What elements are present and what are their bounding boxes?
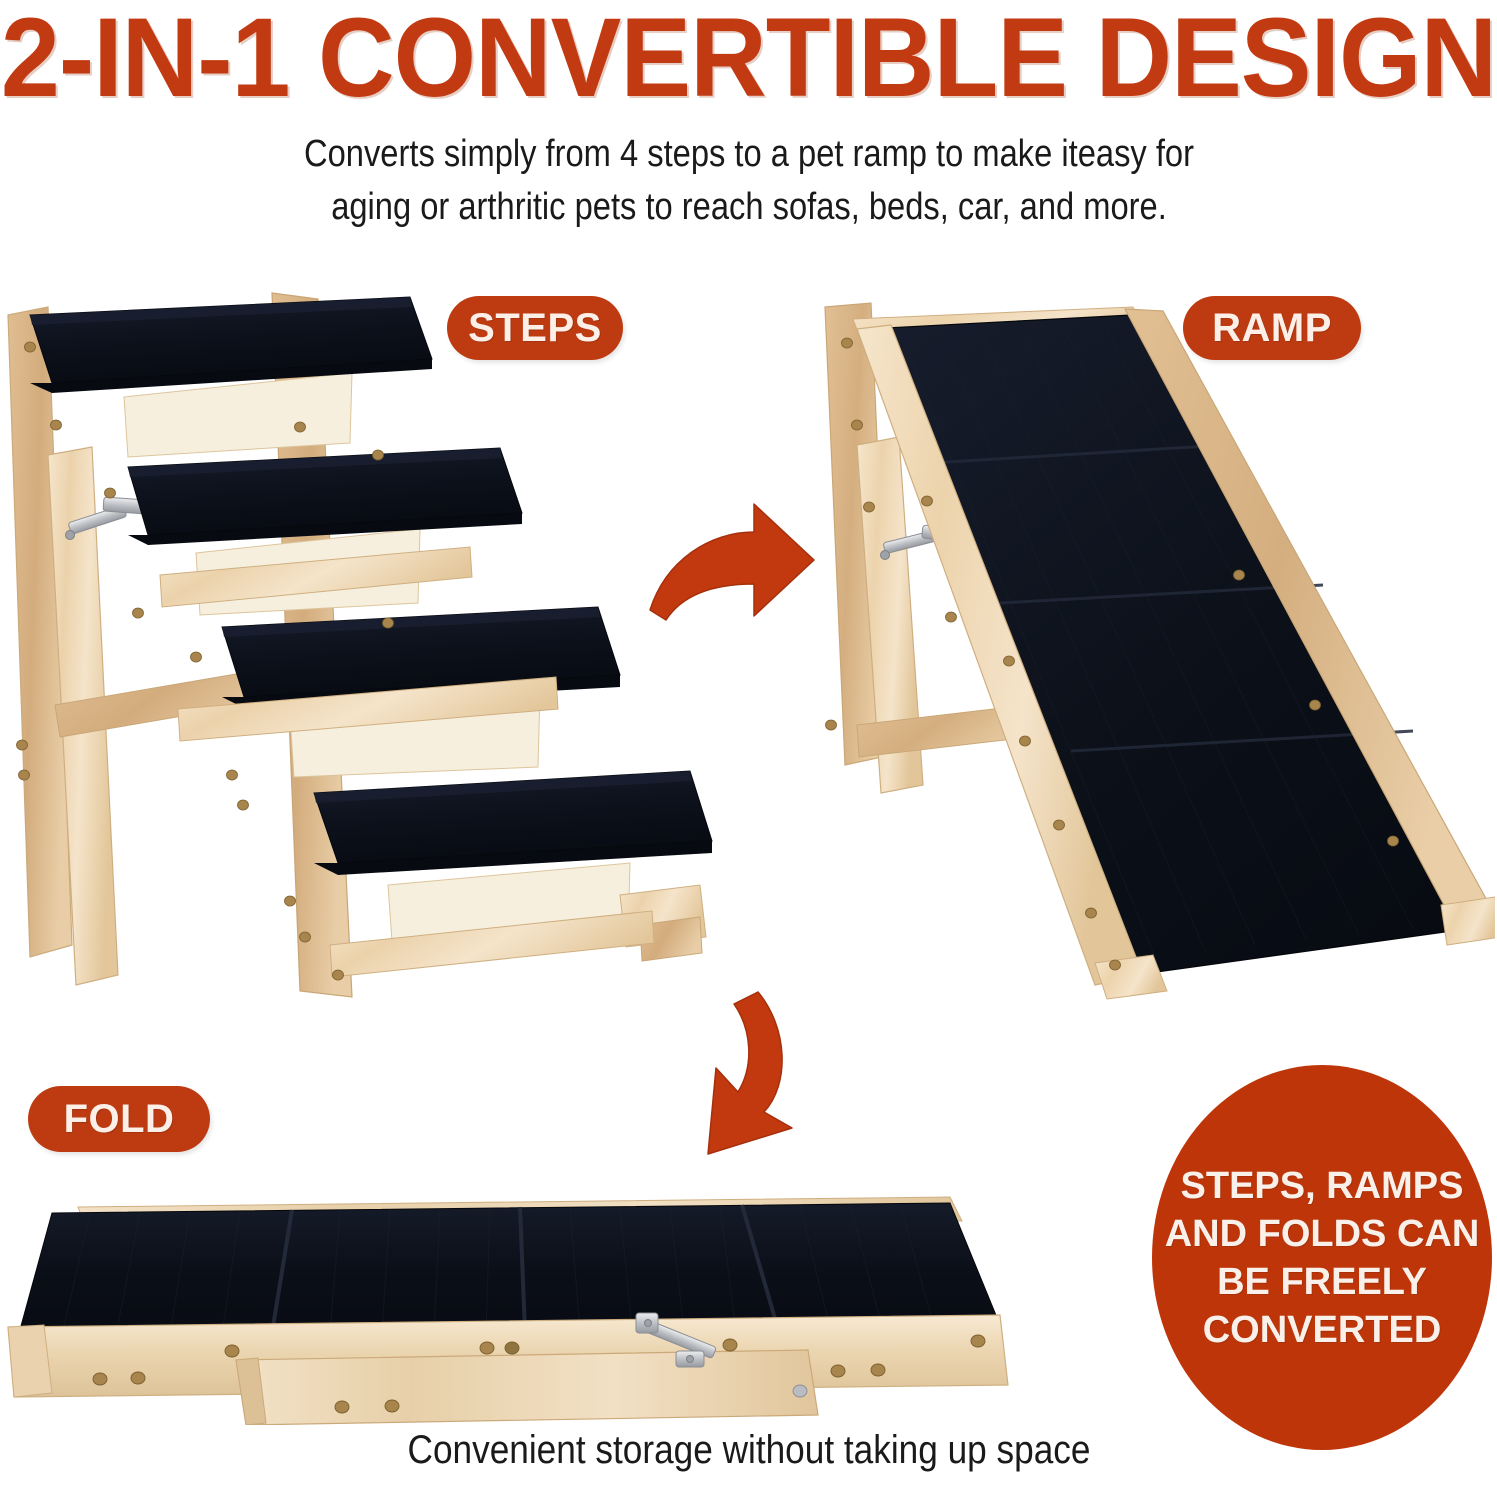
curved-arrow-down-icon [638, 988, 828, 1158]
ramp-illustration [795, 285, 1495, 1000]
page-title: 2-IN-1 CONVERTIBLE DESIGN [0, 2, 1497, 114]
badge-ramp: RAMP [1183, 296, 1361, 360]
bottom-caption: Convenient storage without taking up spa… [265, 1428, 1233, 1473]
subtitle-line-2: aging or arthritic pets to reach sofas, … [198, 181, 1299, 234]
badge-fold: FOLD [28, 1086, 210, 1152]
subtitle-line-1: Converts simply from 4 steps to a pet ra… [198, 128, 1299, 181]
circle-callout-badge: STEPS, RAMPS AND FOLDS CAN BE FREELY CON… [1152, 1065, 1492, 1450]
circle-callout-line-1: STEPS, RAMPS [1181, 1162, 1464, 1210]
page-subtitle: Converts simply from 4 steps to a pet ra… [198, 128, 1299, 234]
badge-steps: STEPS [447, 296, 623, 360]
circle-callout-line-4: CONVERTED [1203, 1306, 1442, 1354]
circle-callout-line-3: BE FREELY [1217, 1258, 1427, 1306]
steps-illustration [0, 285, 720, 1000]
product-image-ramp [795, 285, 1495, 1000]
circle-callout-line-2: AND FOLDS CAN [1165, 1210, 1480, 1258]
curved-arrow-right-icon [648, 488, 818, 628]
product-image-steps [0, 285, 720, 1000]
product-image-folded [0, 1185, 1020, 1425]
folded-illustration [0, 1185, 1020, 1425]
